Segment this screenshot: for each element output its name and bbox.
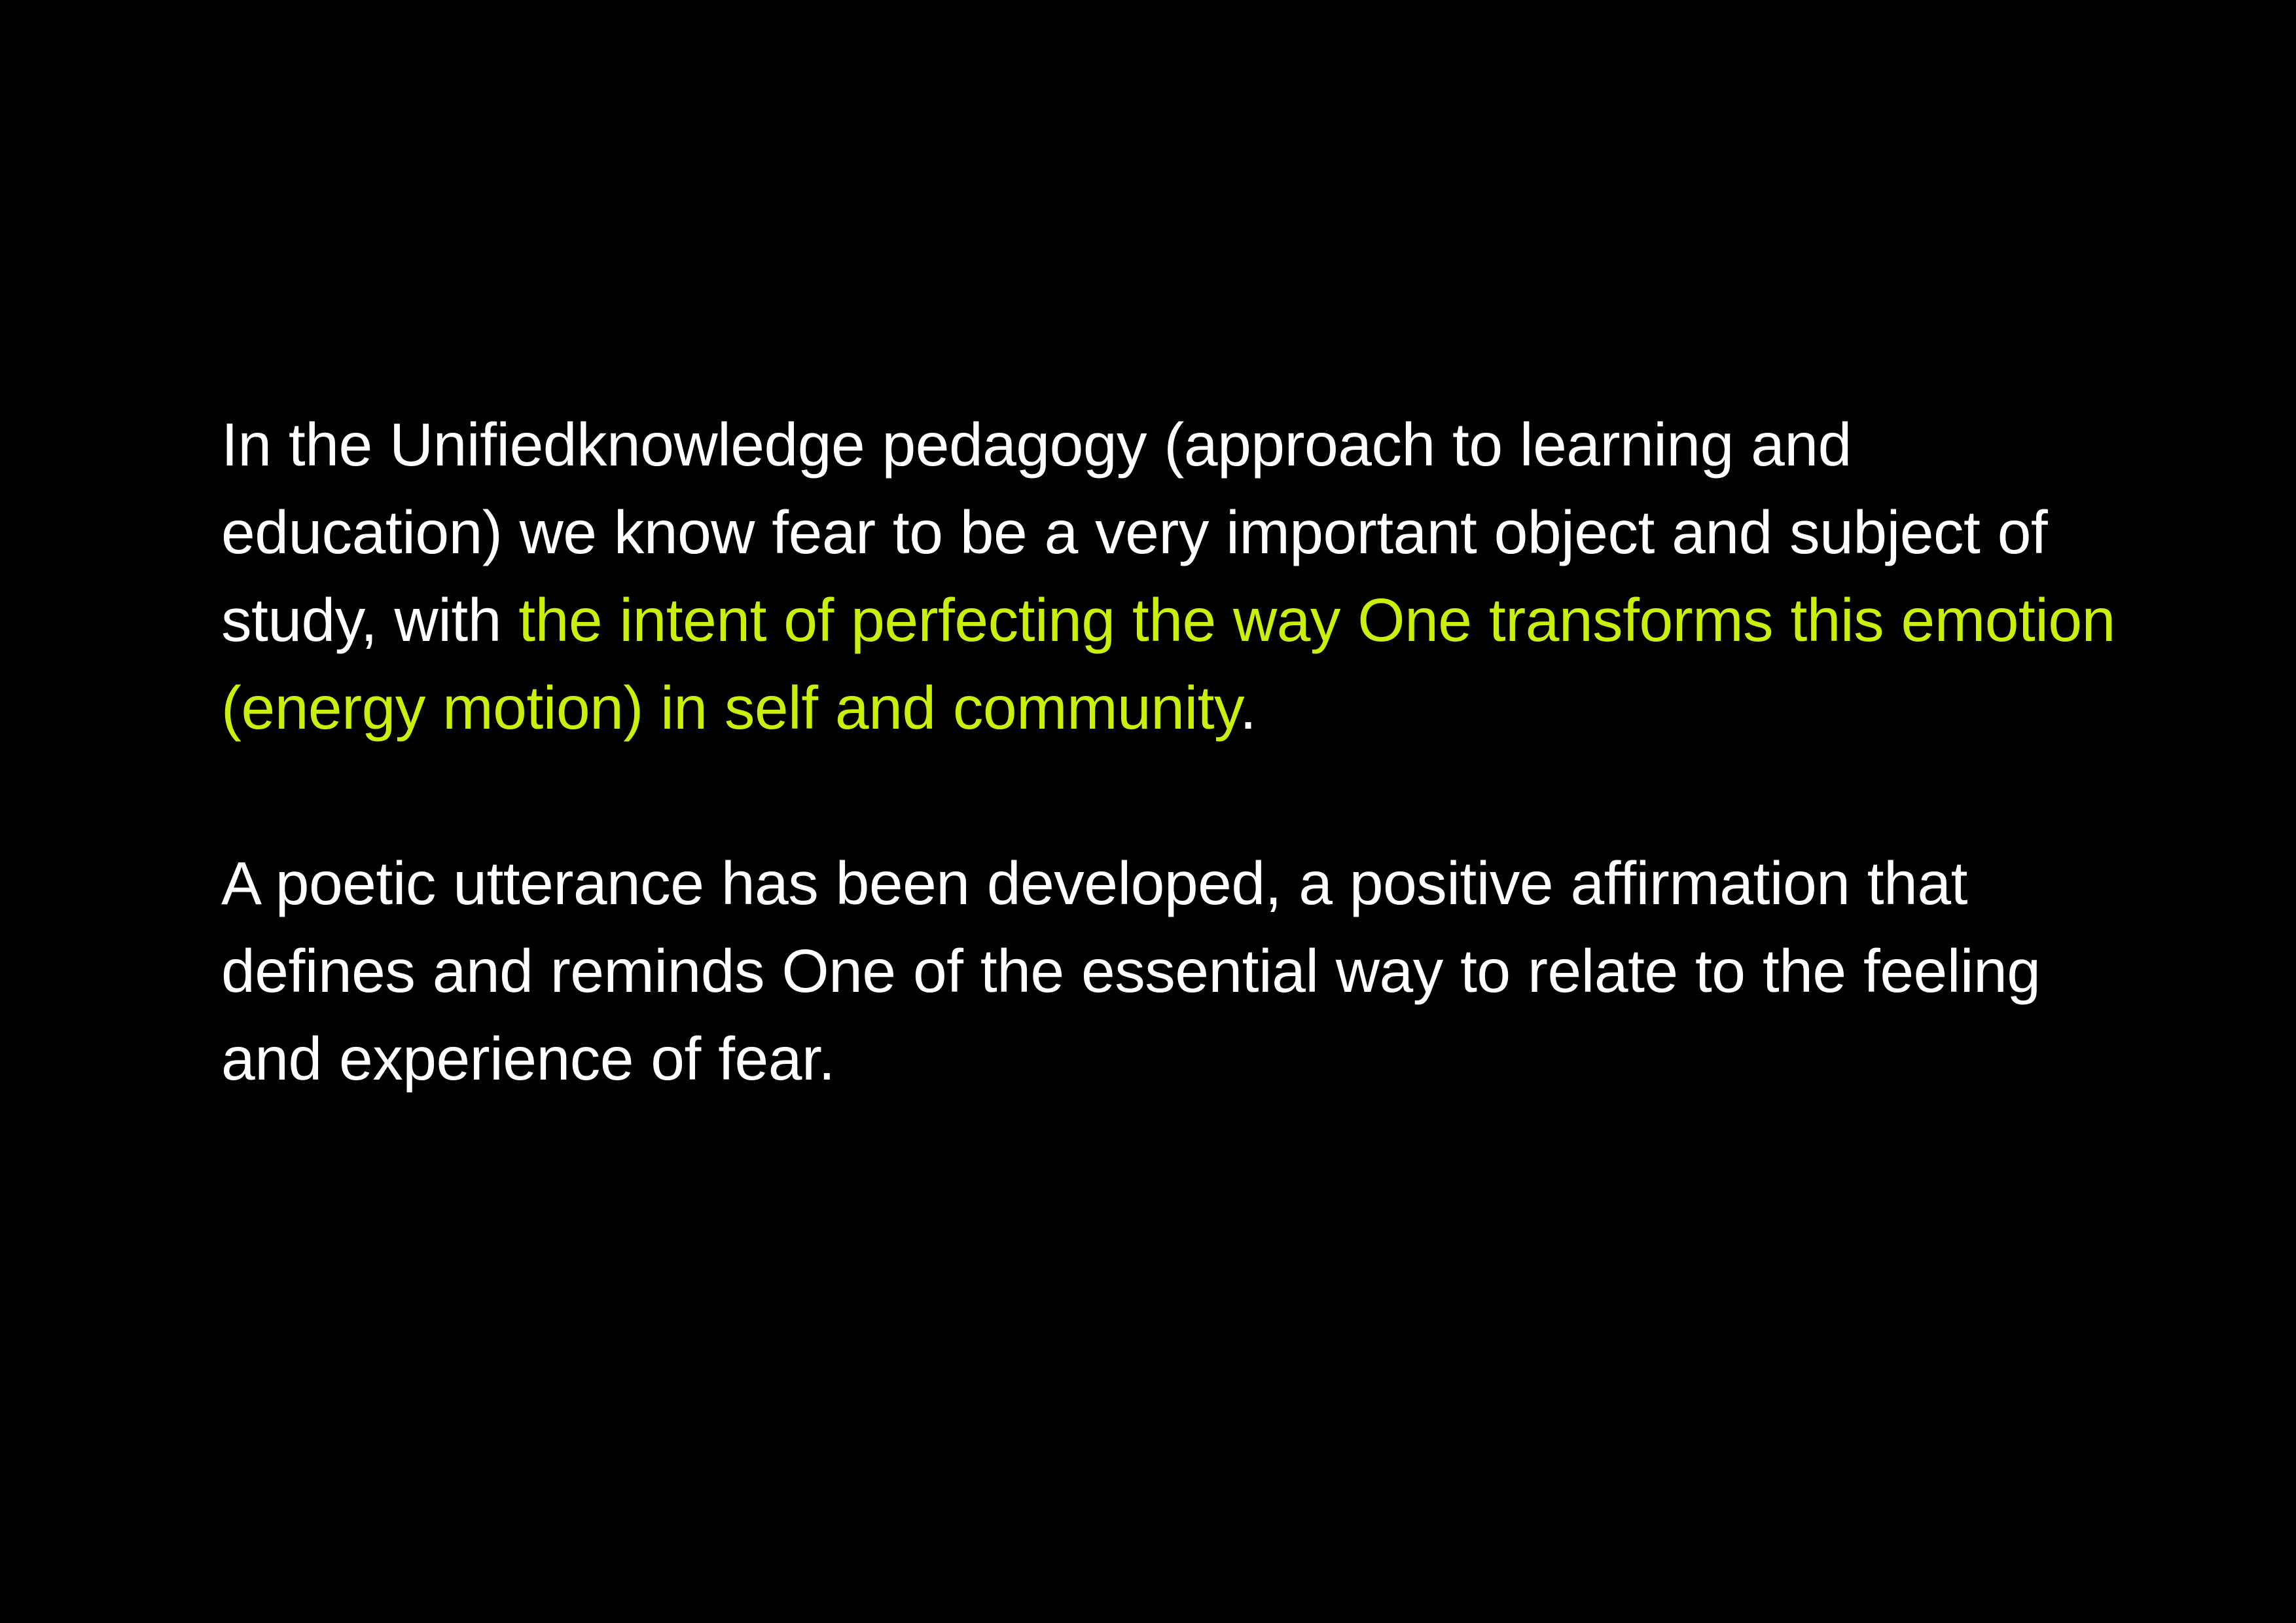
paragraph-1-white-period: . [1240, 674, 1256, 742]
paragraph-2-text: A poetic utterance has been developed, a… [221, 849, 2041, 1093]
paragraph-poetic-utterance: A poetic utterance has been developed, a… [221, 839, 2119, 1103]
slide-canvas: In the Unifiedknowledge pedagogy (approa… [0, 0, 2296, 1623]
text-content-block: In the Unifiedknowledge pedagogy (approa… [221, 401, 2119, 1103]
paragraph-pedagogy: In the Unifiedknowledge pedagogy (approa… [221, 401, 2119, 752]
